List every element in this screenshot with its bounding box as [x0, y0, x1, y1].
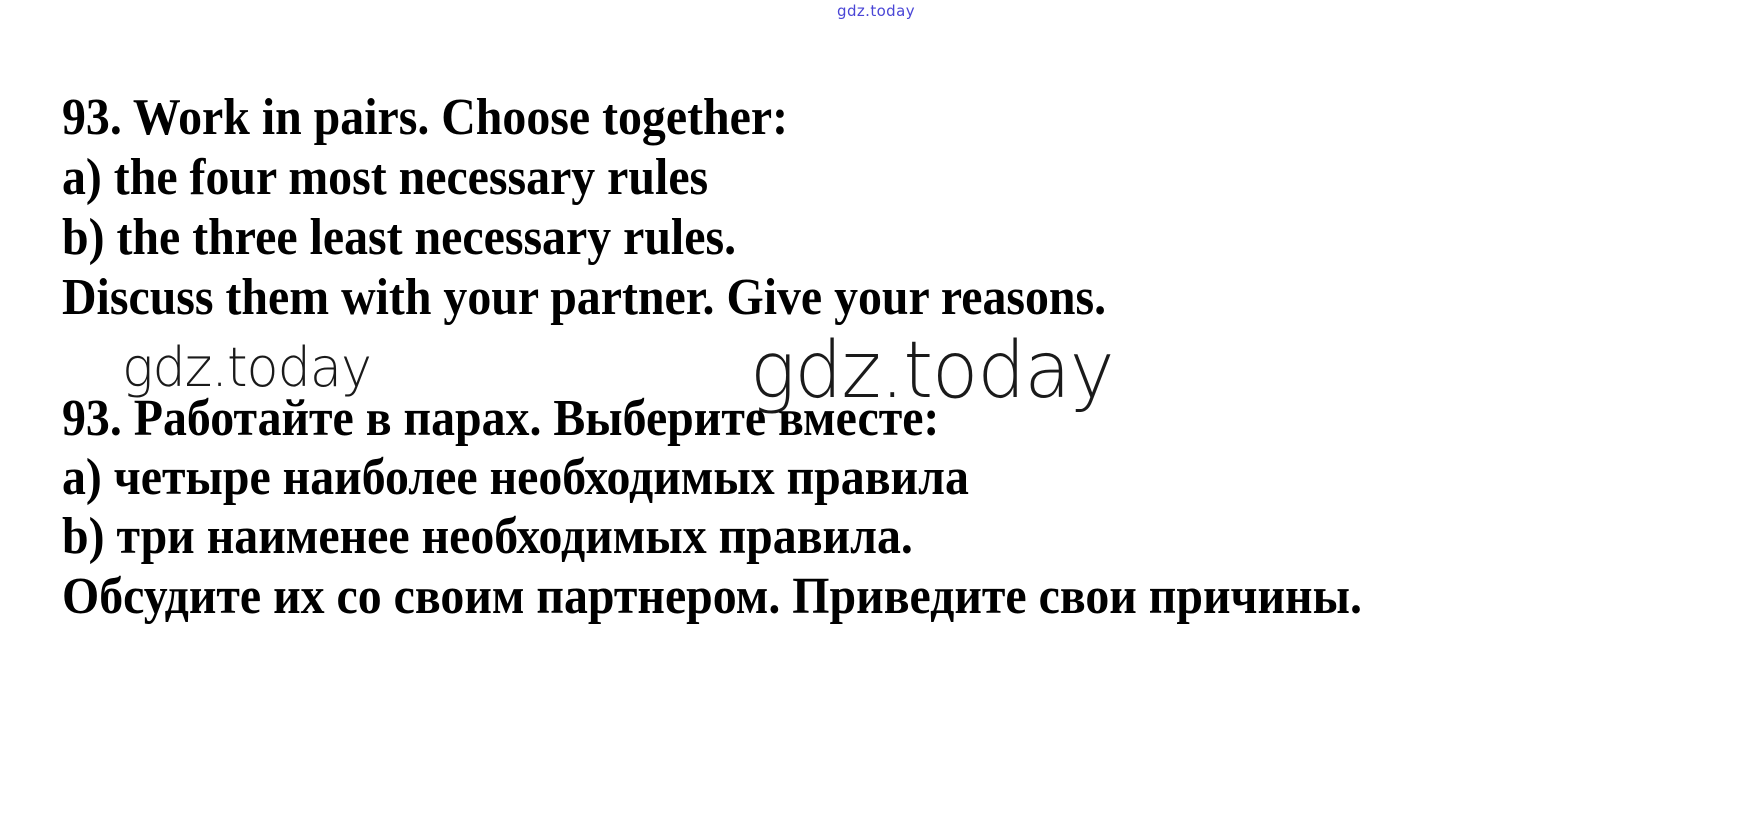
russian-line-option-b: b) три наименее необходимых правила.: [62, 511, 913, 563]
russian-line-instruction: Обсудите их со своим партнером. Приведит…: [62, 571, 1362, 623]
english-line-title: 93. Work in pairs. Choose together:: [62, 92, 788, 144]
page-canvas: gdz.today 93. Work in pairs. Choose toge…: [0, 0, 1752, 828]
russian-line-option-a: a) четыре наиболее необходимых правила: [62, 452, 969, 504]
english-line-option-a: a) the four most necessary rules: [62, 152, 708, 204]
russian-line-title: 93. Работайте в парах. Выберите вместе:: [62, 393, 939, 445]
exercise-content: 93. Work in pairs. Choose together: a) t…: [62, 0, 1722, 828]
english-line-instruction: Discuss them with your partner. Give you…: [62, 272, 1106, 324]
english-line-option-b: b) the three least necessary rules.: [62, 212, 736, 264]
